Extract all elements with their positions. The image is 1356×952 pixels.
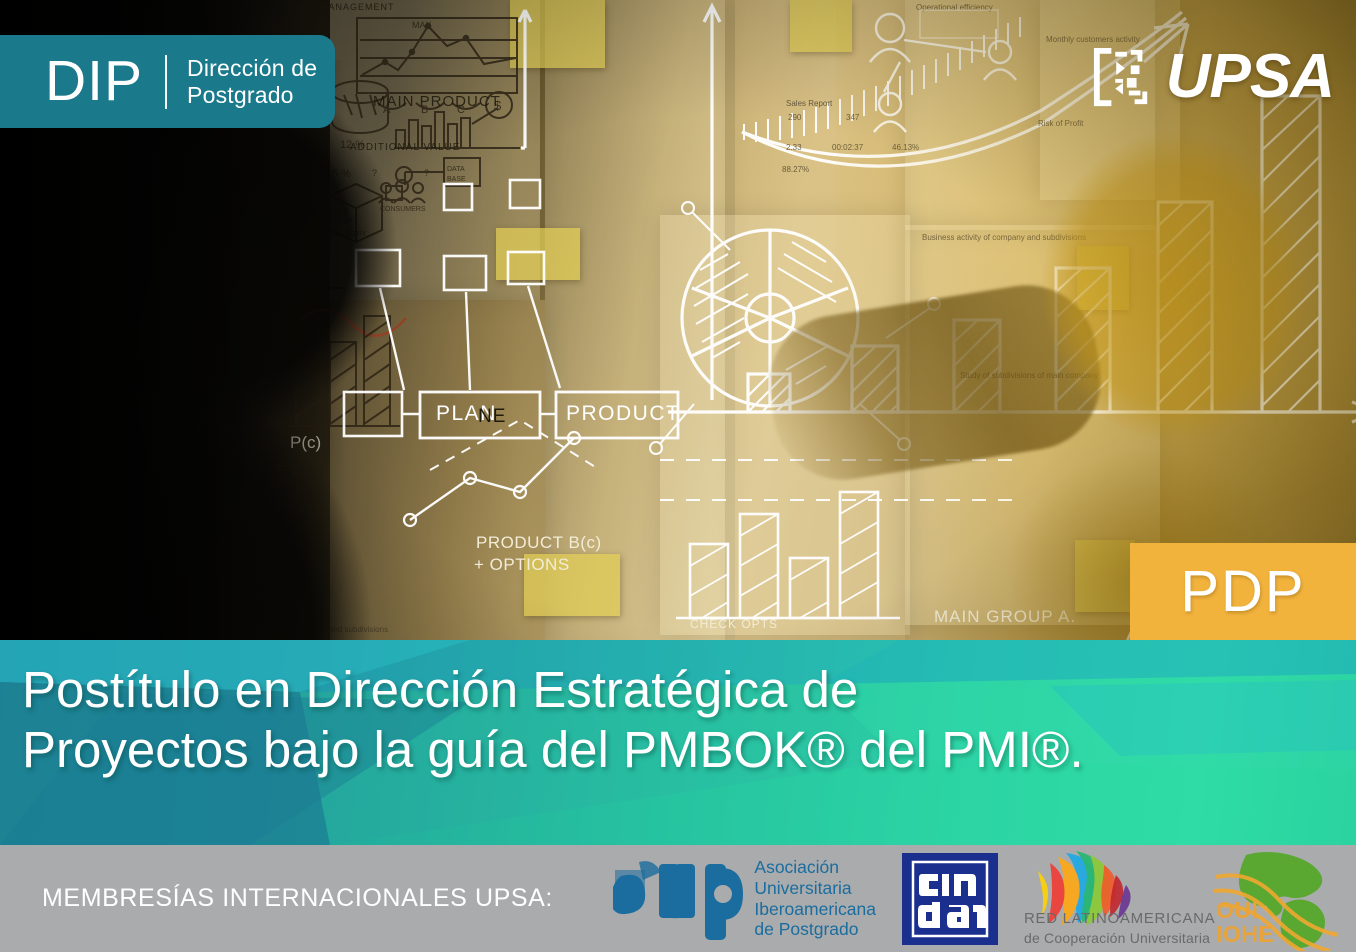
dip-subtitle-line1: Dirección de — [187, 55, 317, 82]
dip-logo-badge: DIP Dirección de Postgrado — [0, 35, 335, 128]
headline-line2: Proyectos bajo la guía del PMBOK® del PM… — [22, 720, 1356, 780]
dip-wordmark: DIP — [0, 53, 143, 110]
auip-logo: Asociación Universitaria Iberoamericana … — [613, 856, 876, 942]
dip-subtitle: Dirección de Postgrado — [187, 55, 317, 108]
memberships-bar: MEMBRESÍAS INTERNACIONALES UPSA: — [0, 845, 1356, 952]
auip-mark-icon — [613, 856, 745, 942]
pdp-badge: PDP — [1130, 543, 1356, 640]
auip-name: Asociación Universitaria Iberoamericana … — [754, 857, 876, 940]
headline-line1: Postítulo en Dirección Estratégica de — [22, 661, 858, 718]
red-latinoamericana-logo: RED LATINOAMERICANA de Cooperación Unive… — [1020, 849, 1206, 949]
upsa-logo: UPSA — [1092, 46, 1334, 108]
upsa-bracket-emblem-icon — [1092, 46, 1154, 108]
memberships-label: MEMBRESÍAS INTERNACIONALES UPSA: — [42, 884, 553, 913]
oui-name-line2: IOHE — [1216, 921, 1274, 948]
headline-band: Postítulo en Dirección Estratégica de Pr… — [0, 640, 1356, 845]
red-name-line2: de Cooperación Universitaria — [1024, 930, 1210, 946]
dip-divider — [165, 55, 167, 109]
headline-text: Postítulo en Dirección Estratégica de Pr… — [22, 660, 1356, 779]
auip-name-line2: Universitaria — [754, 878, 876, 899]
red-name-line1: RED LATINOAMERICANA — [1024, 910, 1215, 927]
auip-name-line3: Iberoamericana — [754, 899, 876, 920]
membership-logos: Asociación Universitaria Iberoamericana … — [613, 845, 1356, 952]
cinda-logo — [902, 853, 998, 945]
promotional-poster: MAX A B C 12 % . . — [0, 0, 1356, 952]
oui-name-line1: OUI — [1216, 897, 1258, 924]
auip-name-line4: de Postgrado — [754, 919, 876, 940]
oui-iohe-logo: OUI IOHE — [1210, 847, 1352, 951]
auip-name-line1: Asociación — [754, 857, 876, 878]
upsa-wordmark: UPSA — [1166, 46, 1334, 108]
dip-subtitle-line2: Postgrado — [187, 82, 317, 109]
pdp-label: PDP — [1180, 563, 1305, 621]
